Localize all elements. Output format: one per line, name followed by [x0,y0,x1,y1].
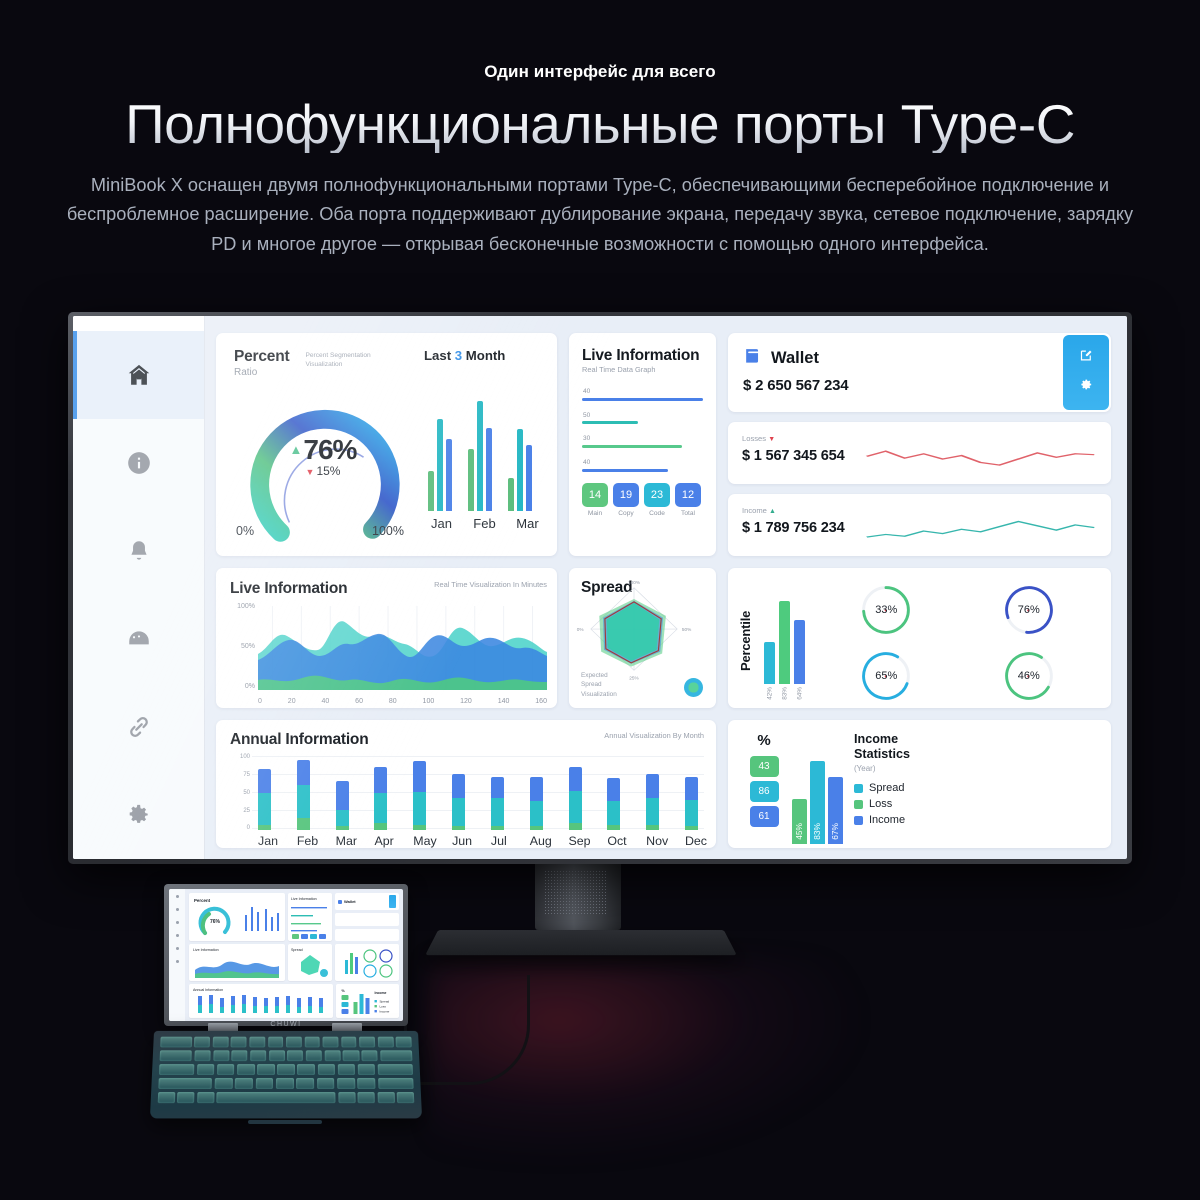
keyboard-row [158,1078,413,1089]
up-triangle-icon: ▲ [290,442,302,457]
area-chart: 100% 50% 0% [230,606,547,690]
annual-title: Annual Information [230,731,368,749]
x-label: Nov [646,834,659,848]
gear-icon[interactable] [1079,377,1094,397]
x-label: Sep [569,834,582,848]
laptop-brand-logo: CHUWI [164,1021,408,1028]
x-label: Dec [685,834,698,848]
wallet-title: Wallet [771,349,819,368]
spread-indicator-dot [684,678,703,697]
svg-text:Percent: Percent [194,898,211,903]
annual-chart: 100 75 50 25 0 [230,756,704,830]
live-info-small-title: Live Information [582,347,703,365]
keyboard-row [159,1064,413,1075]
live-info-small-card: Live Information Real Time Data Graph 40… [569,333,716,556]
svg-text:25%: 25% [629,676,638,681]
percentile-card: Percentile 42% 83% 64% •33% [728,568,1111,708]
legend-item: Loss [854,798,1099,810]
percent-gauge: ▲76% ▼15% [234,384,412,512]
donut-label: •65% [860,650,912,702]
laptop-keyboard[interactable] [150,1031,422,1119]
sidebar-item-links[interactable] [73,683,204,771]
laptop-mirror-live-card: Live Information [288,893,332,941]
laptop-mirror-percentile-card [335,944,399,981]
percent-subtitle-line1: Percent Segmentation [305,352,370,361]
stacked-bar [685,777,698,830]
x-tick: 120 [460,698,472,705]
last3month-x-labels: Jan Feb Mar [424,516,541,531]
losses-label: Losses ▼ [742,434,862,443]
up-triangle-icon: ▲ [769,508,776,515]
annual-x-labels: Jan Feb Mar Apr May Jun Jul Aug Sep Oct … [230,830,704,848]
x-label: May [413,834,426,848]
sidebar-item-home[interactable] [73,331,204,419]
badge-value: 23 [644,483,670,507]
annual-plot [252,756,704,830]
laptop-mirror-row: Annual Information [189,984,399,1018]
badge-value: 19 [613,483,639,507]
down-triangle-icon: ▼ [306,467,315,477]
wallet-amount: $ 2 650 567 234 [743,377,1063,394]
badge-label: Main [582,510,608,517]
edit-icon[interactable] [1079,348,1094,368]
wallet-card: Wallet $ 2 650 567 234 [728,333,1111,412]
donut-label: •33% [860,584,912,636]
x-label: Jun [452,834,465,848]
hbar: 50 [582,412,703,425]
badge-code[interactable]: 23Code [644,483,670,517]
down-triangle-icon: ▼ [768,436,775,443]
annual-header: Annual Information Annual Visualization … [230,731,704,749]
badge-value: 14 [582,483,608,507]
wallet-column: Wallet $ 2 650 567 234 [728,333,1111,556]
keyboard-row [160,1050,413,1061]
laptop-mirror-sidebar [169,889,185,1021]
percentile-bar: 64% [794,620,805,684]
donut-label: •46% [1003,650,1055,702]
svg-text:Live Information: Live Information [291,897,317,901]
income-amount: $ 1 789 756 234 [742,520,862,536]
losses-sparkline [862,434,1099,484]
svg-text:Spread: Spread [291,948,303,952]
x-label: Apr [374,834,387,848]
income-chips: 43 86 61 [742,756,786,827]
laptop-mirror-main: Percent 76% Live Information [185,889,403,1021]
annual-card: Annual Information Annual Visualization … [216,720,716,848]
svg-text:50%: 50% [682,627,691,632]
laptop-mirror-income-card: % Income Spread Loss Income [336,984,399,1018]
gear-icon [126,802,152,828]
x-tick: 0 [258,698,262,705]
bell-icon [126,538,152,564]
income-label: Income ▲ [742,506,862,515]
last3month-section: Last 3 Month Jan Feb Mar [420,348,541,556]
x-tick: 160 [535,698,547,705]
x-label: Mar [514,516,541,531]
stacked-bar [413,761,426,830]
annual-gridlines [252,756,704,830]
sidebar-item-dashboard[interactable] [73,595,204,683]
percent-symbol: % [742,732,786,749]
percent-subtitle-line2: Visualization [305,361,370,370]
x-label: Mar [336,834,349,848]
svg-text:Income: Income [375,991,387,995]
donut-46: •46% [1003,650,1055,702]
losses-amount: $ 1 567 345 654 [742,448,862,464]
donut-76: •76% [1003,584,1055,636]
live-info-area-title: Live Information [230,580,347,598]
svg-text:Live Information: Live Information [193,948,219,952]
income-bar: 83% [810,761,825,844]
bar-group [468,401,492,511]
x-label: Jul [491,834,504,848]
income-chips-column: % 43 86 61 [742,732,786,848]
dashboard-sidebar [73,316,204,859]
dashboard-main: Percent Ratio Percent Segmentation Visua… [204,316,1127,859]
chip-loss: 43 [750,756,779,777]
svg-text:Income: Income [380,1010,390,1014]
wallet-info: Wallet $ 2 650 567 234 [728,333,1063,412]
donut-33: •33% [860,584,912,636]
hbar: 40 [582,459,703,472]
y-tick: 75 [243,772,250,778]
stacked-bar [646,774,659,830]
spread-card: Spread 100% 50% 0% 25% [569,568,716,708]
percent-scale-min: 0% [236,524,254,538]
last3month-title: Last 3 Month [424,348,541,363]
x-tick: 20 [288,698,296,705]
legend-item: Spread [854,782,1099,794]
laptop-mirror-row: Percent 76% Live Information [189,893,399,941]
laptop-mirror-wallet-col: Wallet [335,893,399,941]
svg-text:Spread: Spread [380,1000,390,1004]
badge-label: Copy [613,510,639,517]
x-label: Aug [530,834,543,848]
percent-scale: 0% 100% [236,524,404,538]
keyboard-row [158,1092,415,1103]
stacked-bar [258,769,271,830]
minibook-laptop: Percent 76% Live Information [152,884,420,1124]
monitor-stand-base [425,930,737,955]
link-icon [126,714,152,740]
laptop-mirror-row: Live Information Spread [189,944,399,981]
chip-spread: 86 [750,781,779,802]
wallet-actions [1063,335,1109,410]
percent-gauge-section: Percent Ratio Percent Segmentation Visua… [234,348,420,556]
stacked-bar [452,774,465,830]
percent-card-title: Percent [234,348,289,366]
laptop-mirror-area-card: Live Information [189,944,285,981]
income-stats-title: Income Statistics [854,732,1099,762]
badge-copy[interactable]: 19Copy [613,483,639,517]
x-tick: 140 [498,698,510,705]
x-tick: 40 [321,698,329,705]
percent-scale-max: 100% [372,524,404,538]
percentile-bars: 42% 83% 64% [753,578,816,708]
external-monitor: Percent Ratio Percent Segmentation Visua… [68,312,1132,864]
sidebar-item-settings[interactable] [73,771,204,859]
dashboard-row-2: Live Information Real Time Visualization… [216,568,1111,708]
percentile-left: Percentile 42% 83% 64% [738,578,816,708]
x-label: Feb [297,834,310,848]
live-info-bars: 40 50 30 40 [582,388,703,472]
area-y-axis: 100% 50% 0% [230,606,258,690]
income-card: Income ▲ $ 1 789 756 234 [728,494,1111,556]
percentile-bar: 83% [779,601,790,684]
page-title: Полнофункциональные порты Type-C [0,96,1200,153]
wallet-header: Wallet [743,346,1063,370]
badge-total[interactable]: 12Total [675,483,701,517]
badge-value: 12 [675,483,701,507]
keyboard-row [160,1037,412,1048]
x-label: Jan [258,834,271,848]
live-info-area-card: Live Information Real Time Visualization… [216,568,557,708]
donut-65: •65% [860,650,912,702]
x-tick: 60 [355,698,363,705]
percent-card: Percent Ratio Percent Segmentation Visua… [216,333,557,556]
live-info-area-subtitle: Real Time Visualization In Minutes [434,580,547,589]
percentile-title: Percentile [738,578,753,704]
gauge-icon [126,626,152,652]
laptop-mirror-annual-card: Annual Information [189,984,333,1018]
laptop-mirror-percent-card: Percent 76% [189,893,285,941]
svg-text:Annual Information: Annual Information [193,988,223,992]
y-tick: 100 [240,754,250,760]
y-tick: 50 [243,790,250,796]
live-info-badges: 14Main 19Copy 23Code 12Total [582,483,703,517]
laptop-touchpad[interactable] [248,1120,322,1124]
dashboard-row-3: Annual Information Annual Visualization … [216,720,1111,848]
percentile-bar: 42% [764,642,775,684]
x-tick: 80 [389,698,397,705]
y-tick: 0 [247,825,250,831]
stacked-bar [607,778,620,830]
bar-group [428,419,452,511]
donut-label: •76% [1003,584,1055,636]
y-tick: 100% [237,603,255,610]
live-info-small-subtitle: Real Time Data Graph [582,365,703,374]
y-tick: 0% [245,683,255,690]
sidebar-topbar [73,316,204,331]
keyboard-grid [158,1037,415,1103]
x-label: Oct [607,834,620,848]
stacked-bar [530,777,543,830]
y-tick: 25 [243,808,250,814]
legend-item: Income [854,814,1099,826]
hbar: 40 [582,388,703,401]
percent-center-readout: ▲76% ▼15% [234,434,412,478]
stacked-bar [297,760,310,830]
dashboard-row-1: Percent Ratio Percent Segmentation Visua… [216,333,1111,556]
income-bar: 45% [792,799,807,844]
live-info-area-header: Live Information Real Time Visualization… [230,580,547,598]
income-stats-card: % 43 86 61 45% 83% 67% In [728,720,1111,848]
monitor-bezel: Percent Ratio Percent Segmentation Visua… [68,312,1132,864]
page-subtitle: MiniBook X оснащен двумя полнофункционал… [63,171,1138,259]
income-stats-period: (Year) [854,764,1099,773]
dashboard-screen: Percent Ratio Percent Segmentation Visua… [73,316,1127,859]
income-stats-legend: Spread Loss Income [854,782,1099,826]
svg-text:Loss: Loss [380,1005,387,1009]
laptop-screen: Percent 76% Live Information [169,889,403,1021]
info-icon [126,450,152,476]
laptop-mirror-spread-card: Spread [288,944,332,981]
laptop-lid: Percent 76% Live Information [164,884,408,1026]
eyebrow-text: Один интерфейс для всего [0,62,1200,82]
svg-text:76%: 76% [210,919,221,925]
monitor-stand-neck [535,864,621,930]
percent-ratio-label: Ratio [234,367,289,378]
income-stats-info: Income Statistics (Year) Spread Loss Inc… [848,732,1099,848]
x-tick: 100 [423,698,435,705]
svg-text:100%: 100% [628,580,640,585]
svg-text:%: % [342,989,346,993]
badge-label: Total [675,510,701,517]
last3month-chart [424,379,541,511]
annual-y-axis: 100 75 50 25 0 [230,756,252,830]
sidebar-item-notifications[interactable] [73,507,204,595]
stacked-bar [569,767,582,830]
percentile-donuts: •33% •76% •65% •46% [816,578,1099,708]
income-bars: 45% 83% 67% [786,732,848,848]
percent-main-value: ▲76% [234,434,412,466]
y-tick: 50% [241,643,255,650]
x-label: Feb [471,516,498,531]
income-info: Income ▲ $ 1 789 756 234 [742,506,862,556]
spread-note: Expected Spread Visualization [581,671,617,699]
income-bar: 67% [828,777,843,844]
income-sparkline [862,506,1099,556]
annual-subtitle: Annual Visualization By Month [604,731,704,740]
x-label: Jan [428,516,455,531]
losses-info: Losses ▼ $ 1 567 345 654 [742,434,862,484]
wallet-icon [743,346,762,370]
stacked-bar [374,767,387,830]
hbar: 30 [582,435,703,448]
bar-group [508,429,532,511]
hero-header: Один интерфейс для всего Полнофункционал… [0,0,1200,259]
stacked-bar [336,781,349,830]
stacked-bar [491,777,504,830]
percent-delta-value: ▼15% [234,464,412,478]
losses-card: Losses ▼ $ 1 567 345 654 [728,422,1111,484]
badge-main[interactable]: 14Main [582,483,608,517]
sidebar-item-info[interactable] [73,419,204,507]
home-icon [126,362,152,388]
svg-text:0%: 0% [577,627,584,632]
badge-label: Code [644,510,670,517]
chip-income: 61 [750,806,779,827]
